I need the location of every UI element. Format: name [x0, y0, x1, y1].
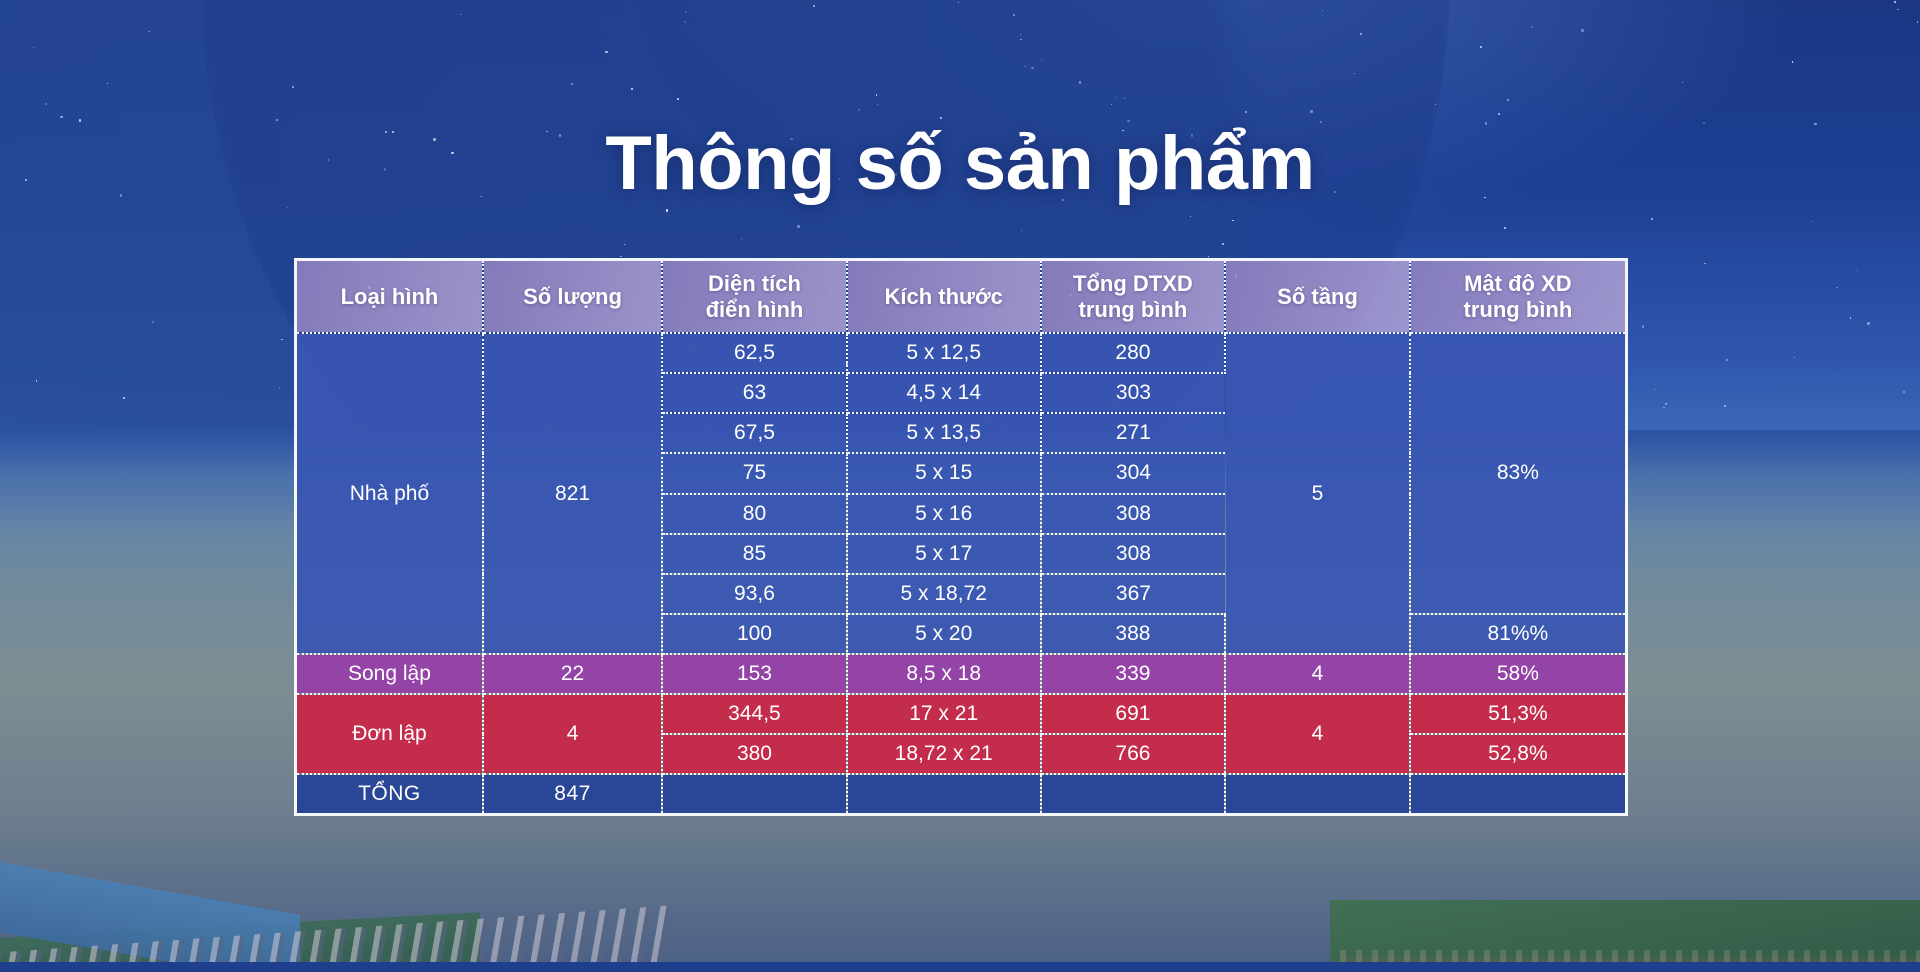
- cell-total-empty: [1041, 774, 1226, 813]
- star-dot: [1839, 374, 1840, 375]
- star-dot: [1208, 256, 1209, 257]
- star-dot: [1310, 110, 1313, 113]
- star-dot: [685, 11, 687, 13]
- table-header-cell: Kích thước: [847, 261, 1041, 333]
- cell-average-gfa: 766: [1041, 734, 1226, 774]
- cell-dimensions: 5 x 16: [847, 494, 1041, 534]
- cell-build-density: 58%: [1410, 654, 1625, 694]
- star-dot: [1867, 322, 1870, 325]
- star-dot: [460, 14, 461, 15]
- star-dot: [631, 88, 633, 90]
- table-body: Nhà phố82162,55 x 12,5280583%634,5 x 143…: [297, 333, 1625, 813]
- cell-dimensions: 5 x 17: [847, 534, 1041, 574]
- cell-dimensions: 4,5 x 14: [847, 373, 1041, 413]
- table-total-row: TỔNG847: [297, 774, 1625, 813]
- star-dot: [605, 51, 607, 53]
- table-header-cell-line: Diện tích: [708, 271, 801, 296]
- cell-typical-area: 85: [662, 534, 847, 574]
- cell-product-type: Song lập: [297, 654, 483, 694]
- cell-quantity: 22: [483, 654, 662, 694]
- cell-average-gfa: 388: [1041, 614, 1226, 654]
- star-dot: [123, 397, 125, 399]
- star-dot: [1665, 403, 1666, 404]
- star-dot: [1531, 26, 1533, 28]
- cell-dimensions: 5 x 12,5: [847, 333, 1041, 373]
- star-dot: [1850, 317, 1852, 319]
- star-dot: [876, 94, 878, 96]
- star-dot: [666, 209, 668, 211]
- page-title: Thông số sản phẩm: [0, 124, 1920, 204]
- star-dot: [797, 225, 799, 227]
- star-dot: [292, 86, 294, 88]
- cell-total-empty: [1225, 774, 1410, 813]
- table-header-cell-line: Mật độ XD: [1464, 271, 1572, 296]
- cell-typical-area: 63: [662, 373, 847, 413]
- cell-total-label: TỔNG: [297, 774, 483, 813]
- cell-build-density: 52,8%: [1410, 734, 1625, 774]
- star-dot: [1792, 61, 1793, 62]
- table-row: Song lập221538,5 x 18339458%: [297, 654, 1625, 694]
- star-dot: [1726, 359, 1728, 361]
- star-dot: [1836, 287, 1837, 288]
- cell-dimensions: 17 x 21: [847, 694, 1041, 734]
- star-dot: [1013, 14, 1015, 16]
- star-dot: [1190, 216, 1191, 217]
- star-dot: [1320, 121, 1322, 123]
- cell-typical-area: 62,5: [662, 333, 847, 373]
- cell-total-empty: [662, 774, 847, 813]
- cell-build-density-extra: 81%%: [1410, 614, 1625, 654]
- table-header-cell: Số tầng: [1225, 261, 1410, 333]
- star-dot: [958, 2, 959, 3]
- cell-average-gfa: 367: [1041, 574, 1226, 614]
- star-dot: [1480, 46, 1482, 48]
- table-row: Nhà phố82162,55 x 12,5280583%: [297, 333, 1625, 373]
- table-header-cell: Diện tíchđiển hình: [662, 261, 847, 333]
- cell-typical-area: 80: [662, 494, 847, 534]
- cell-build-density: 51,3%: [1410, 694, 1625, 734]
- star-dot: [1682, 82, 1683, 83]
- star-dot: [677, 98, 679, 100]
- cell-quantity: 821: [483, 333, 662, 654]
- cell-typical-area: 153: [662, 654, 847, 694]
- cell-typical-area: 380: [662, 734, 847, 774]
- table-header-cell-line: Loại hình: [341, 284, 439, 309]
- cell-product-type: Nhà phố: [297, 333, 483, 654]
- star-dot: [1024, 66, 1025, 67]
- star-dot: [1222, 243, 1224, 245]
- table-header: Loại hìnhSố lượngDiện tíchđiển hìnhKích …: [297, 261, 1625, 333]
- star-dot: [60, 116, 62, 118]
- star-dot: [33, 47, 34, 48]
- star-dot: [1794, 357, 1795, 358]
- star-dot: [281, 339, 282, 340]
- star-dot: [1232, 220, 1234, 222]
- cell-average-gfa: 691: [1041, 694, 1226, 734]
- star-dot: [1651, 218, 1653, 220]
- star-dot: [152, 321, 154, 323]
- cell-average-gfa: 271: [1041, 413, 1226, 453]
- star-dot: [1724, 405, 1726, 407]
- cell-build-density: 83%: [1410, 333, 1625, 614]
- table-header-cell-line: trung bình: [1079, 297, 1188, 322]
- cell-total-empty: [847, 774, 1041, 813]
- table-header-cell-line: Tổng DTXD: [1073, 271, 1193, 296]
- bottom-blue-bar: [0, 962, 1920, 972]
- table-header-cell-line: Số tầng: [1277, 284, 1358, 309]
- cell-product-type: Đơn lập: [297, 694, 483, 774]
- star-dot: [36, 380, 38, 382]
- star-dot: [1031, 67, 1034, 70]
- star-dot: [877, 104, 878, 105]
- star-dot: [1116, 97, 1117, 98]
- cell-quantity: 4: [483, 694, 662, 774]
- star-dot: [1507, 99, 1509, 101]
- star-dot: [1811, 221, 1812, 222]
- star-dot: [45, 103, 47, 105]
- cell-dimensions: 5 x 20: [847, 614, 1041, 654]
- star-dot: [1021, 230, 1023, 232]
- star-dot: [1856, 270, 1857, 271]
- star-dot: [1041, 60, 1042, 61]
- cell-dimensions: 5 x 15: [847, 453, 1041, 493]
- cell-average-gfa: 280: [1041, 333, 1226, 373]
- cell-typical-area: 100: [662, 614, 847, 654]
- product-spec-table-container: Loại hìnhSố lượngDiện tíchđiển hìnhKích …: [294, 258, 1628, 816]
- table-header-cell: Loại hình: [297, 261, 483, 333]
- star-dot: [1111, 104, 1112, 105]
- star-dot: [1655, 389, 1656, 390]
- star-dot: [1704, 263, 1706, 265]
- cell-dimensions: 5 x 18,72: [847, 574, 1041, 614]
- cell-typical-area: 75: [662, 453, 847, 493]
- cell-average-gfa: 308: [1041, 534, 1226, 574]
- star-dot: [1353, 73, 1355, 75]
- product-spec-table: Loại hìnhSố lượngDiện tíchđiển hìnhKích …: [297, 261, 1625, 813]
- star-dot: [1581, 29, 1584, 32]
- cell-floors: 5: [1225, 333, 1410, 654]
- table-header-cell-line: trung bình: [1464, 297, 1573, 322]
- star-dot: [1663, 407, 1664, 408]
- cell-average-gfa: 339: [1041, 654, 1226, 694]
- cell-total-empty: [1410, 774, 1625, 813]
- table-header-cell: Tổng DTXDtrung bình: [1041, 261, 1226, 333]
- star-dot: [940, 117, 942, 119]
- table-row: Đơn lập4344,517 x 21691451,3%: [297, 694, 1625, 734]
- star-dot: [287, 207, 288, 208]
- star-dot: [1642, 325, 1644, 327]
- table-header-cell-line: Kích thước: [885, 284, 1003, 309]
- star-dot: [571, 83, 573, 85]
- star-dot: [1020, 39, 1021, 40]
- star-dot: [1917, 21, 1919, 23]
- cell-average-gfa: 308: [1041, 494, 1226, 534]
- cell-total-quantity: 847: [483, 774, 662, 813]
- table-header-row: Loại hìnhSố lượngDiện tíchđiển hìnhKích …: [297, 261, 1625, 333]
- cell-floors: 4: [1225, 654, 1410, 694]
- cell-average-gfa: 304: [1041, 453, 1226, 493]
- star-dot: [79, 119, 81, 121]
- star-dot: [624, 244, 626, 246]
- star-dot: [1360, 33, 1361, 34]
- star-dot: [1894, 1, 1896, 3]
- star-dot: [1435, 104, 1436, 105]
- cell-dimensions: 8,5 x 18: [847, 654, 1041, 694]
- star-dot: [1322, 10, 1323, 11]
- star-dot: [1498, 113, 1501, 116]
- cell-typical-area: 344,5: [662, 694, 847, 734]
- star-dot: [741, 238, 743, 240]
- star-dot: [1504, 227, 1506, 229]
- cell-dimensions: 18,72 x 21: [847, 734, 1041, 774]
- table-header-cell-line: Số lượng: [523, 284, 622, 309]
- star-dot: [276, 119, 278, 121]
- cell-typical-area: 93,6: [662, 574, 847, 614]
- star-dot: [813, 5, 815, 7]
- table-header-cell: Số lượng: [483, 261, 662, 333]
- table-header-cell: Mật độ XDtrung bình: [1410, 261, 1625, 333]
- cell-floors: 4: [1225, 694, 1410, 774]
- star-dot: [684, 21, 686, 23]
- star-dot: [279, 387, 281, 389]
- star-dot: [1079, 81, 1082, 84]
- table-header-cell-line: điển hình: [706, 297, 804, 322]
- star-dot: [1245, 111, 1247, 113]
- star-dot: [148, 31, 149, 32]
- star-dot: [858, 109, 860, 111]
- cell-dimensions: 5 x 13,5: [847, 413, 1041, 453]
- star-dot: [107, 83, 108, 84]
- star-dot: [1124, 98, 1125, 99]
- star-dot: [1020, 34, 1021, 35]
- cell-typical-area: 67,5: [662, 413, 847, 453]
- star-dot: [1897, 9, 1899, 11]
- cell-average-gfa: 303: [1041, 373, 1226, 413]
- star-dot: [1903, 391, 1905, 393]
